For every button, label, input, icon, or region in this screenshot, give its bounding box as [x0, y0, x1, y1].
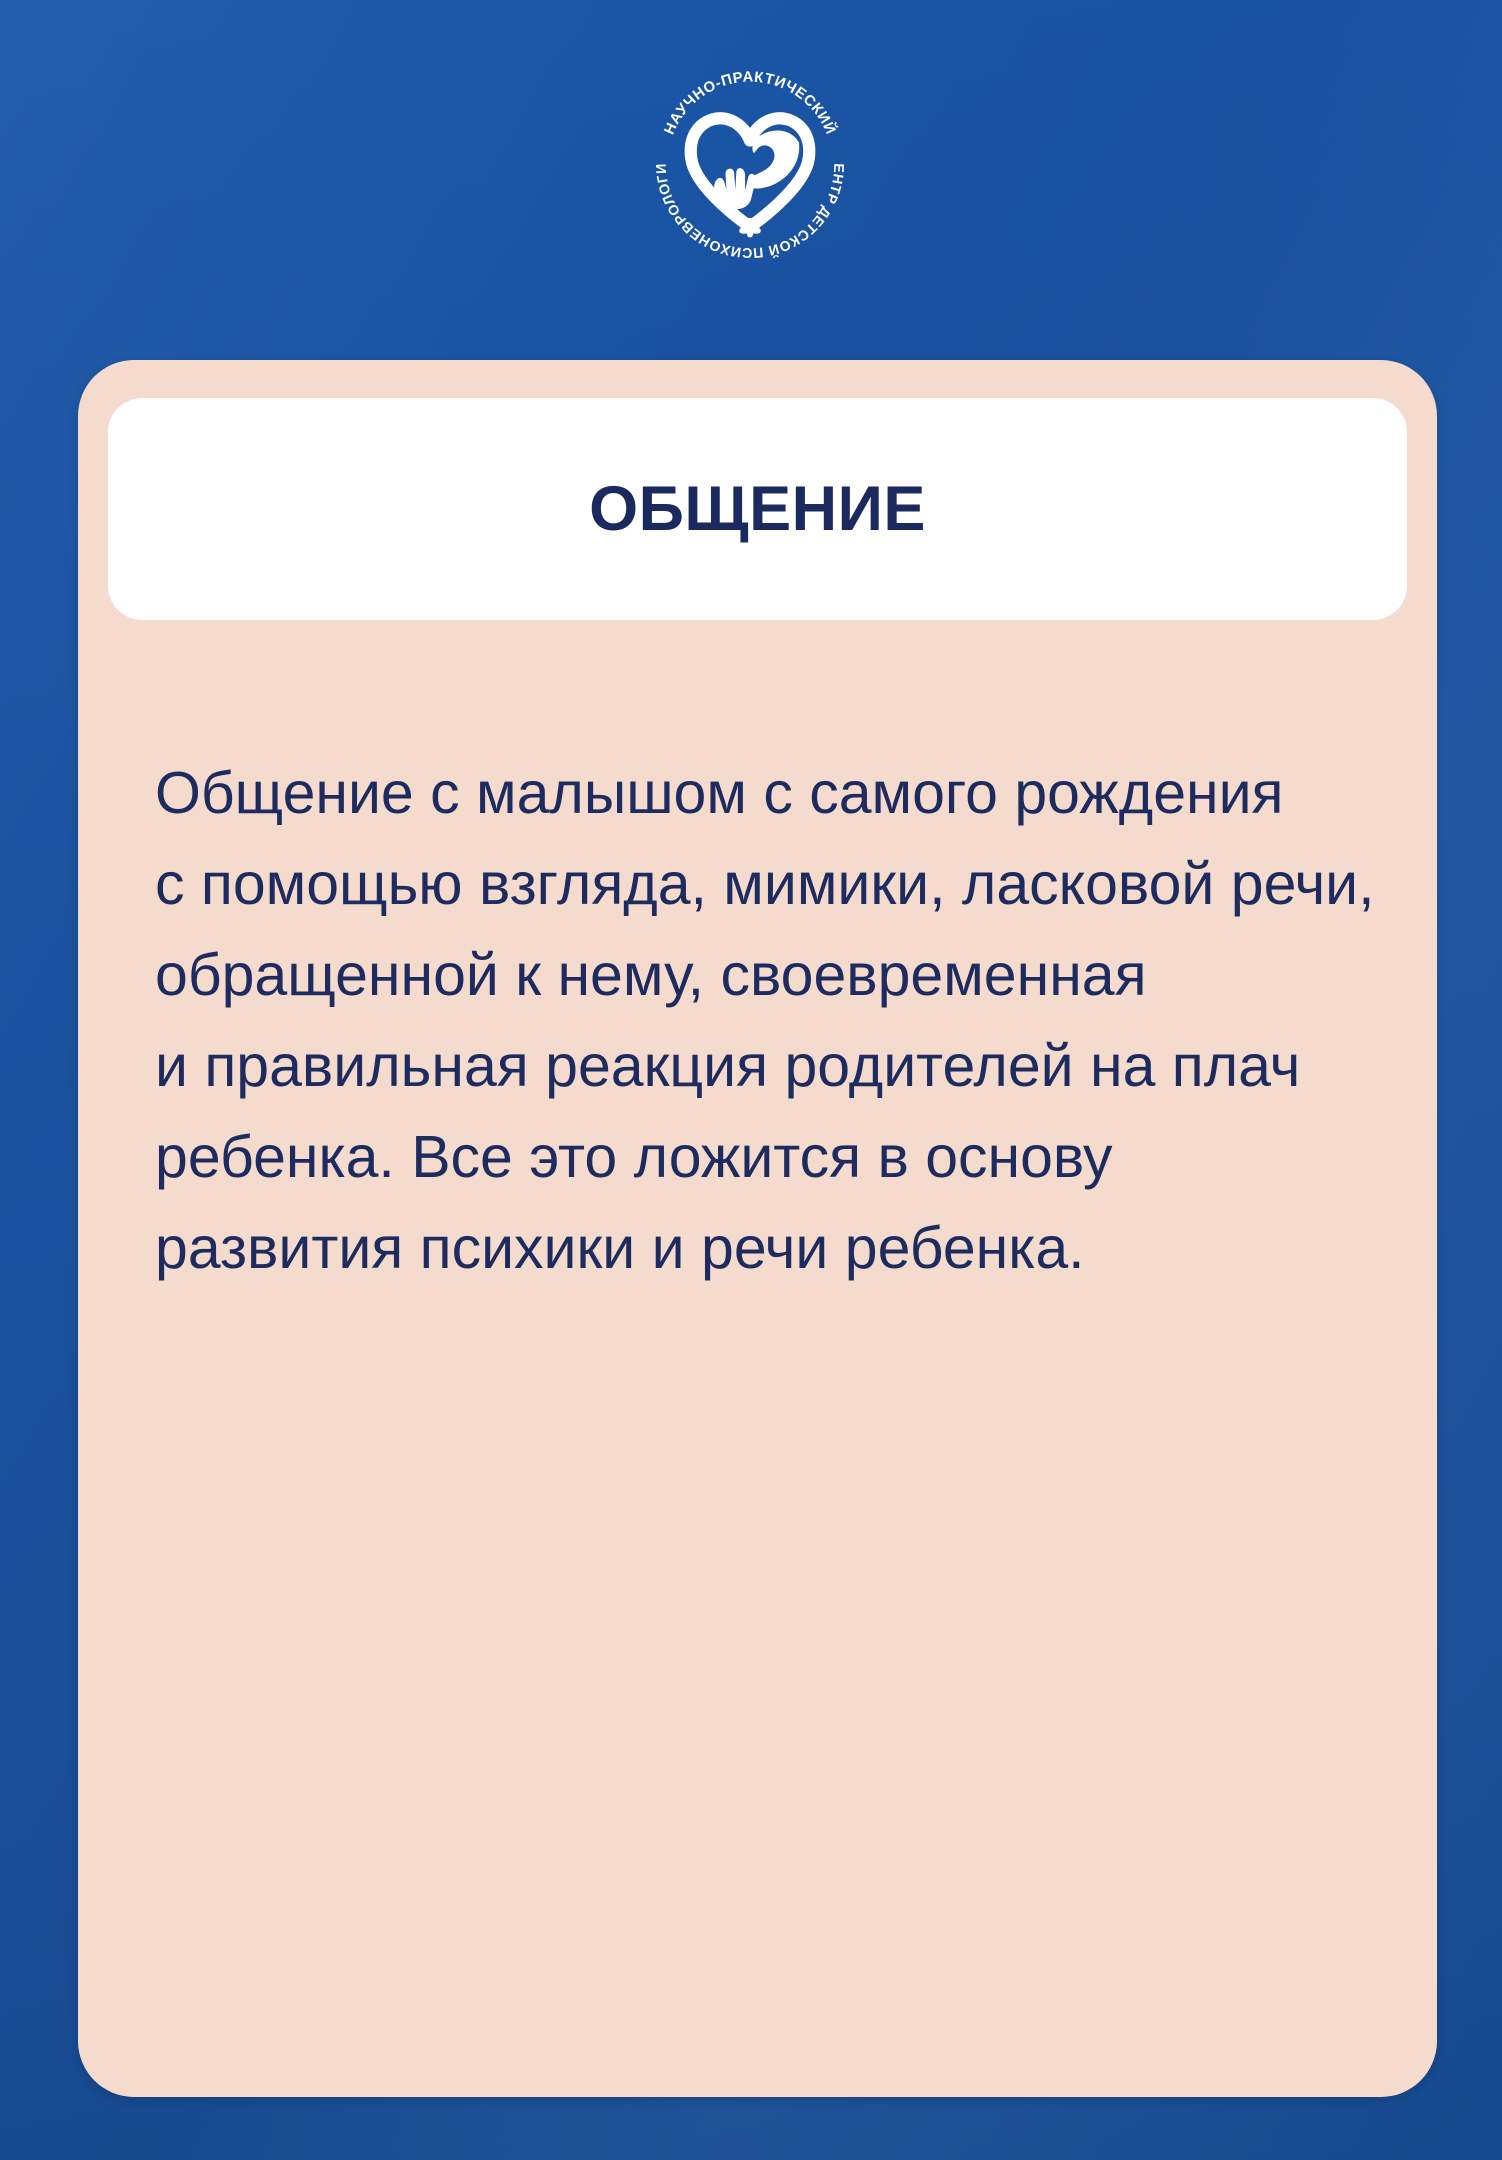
body-text: Общение с малышом с самого рождения с по…	[155, 748, 1365, 1294]
body-line: развития психики и речи ребенка.	[155, 1203, 1365, 1294]
body-line: ребенка. Все это ложится в основу	[155, 1112, 1365, 1203]
content-card: ОБЩЕНИЕ Общение с малышом с самого рожде…	[78, 360, 1437, 2097]
organization-logo: НАУЧНО-ПРАКТИЧЕСКИЙ ЦЕНТР ДЕТСКОЙ ПСИХОН…	[652, 66, 848, 262]
page-title: ОБЩЕНИЕ	[589, 478, 926, 541]
body-line: обращенной к нему, своевременная	[155, 930, 1365, 1021]
body-line: и правильная реакция родителей на плач	[155, 1021, 1365, 1112]
poster-root: НАУЧНО-ПРАКТИЧЕСКИЙ ЦЕНТР ДЕТСКОЙ ПСИХОН…	[0, 0, 1502, 2160]
body-line: Общение с малышом с самого рождения	[155, 748, 1365, 839]
title-panel: ОБЩЕНИЕ	[108, 398, 1407, 620]
body-line: с помощью взгляда, мимики, ласковой речи…	[155, 839, 1365, 930]
